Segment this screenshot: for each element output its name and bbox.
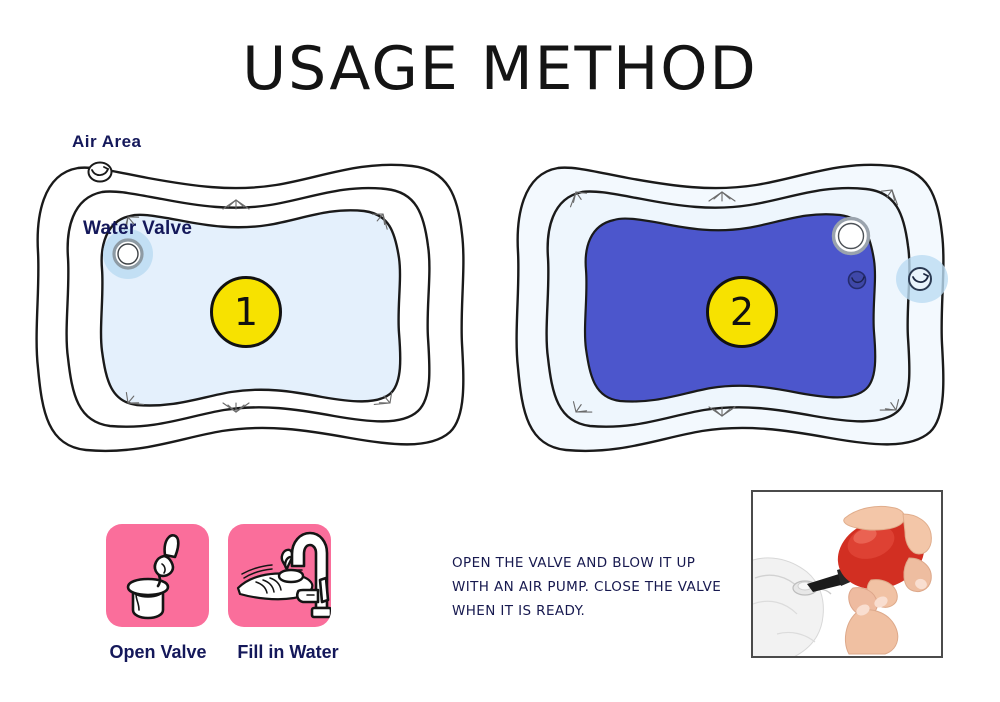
usage-method-diagram: USAGE METHOD [0, 0, 1000, 702]
instruction-text: OPEN THE VALVE AND BLOW IT UP WITH AN AI… [452, 551, 752, 623]
instruction-line-1: OPEN THE VALVE AND BLOW IT UP [452, 551, 752, 575]
step-number-badge-2: 2 [706, 276, 778, 348]
air-pump-photo [751, 490, 943, 658]
water-valve-icon [834, 219, 869, 254]
instruction-line-2: WITH AN AIR PUMP. CLOSE THE VALVE [452, 575, 752, 599]
water-valve-label: Water Valve [83, 218, 192, 240]
step-number-badge-1: 1 [210, 276, 282, 348]
fill-in-water-label: Fill in Water [218, 642, 358, 663]
air-valve-icon [89, 163, 112, 182]
air-area-label: Air Area [72, 132, 142, 152]
air-valve-icon [896, 255, 948, 303]
instruction-line-3: WHEN IT IS READY. [452, 599, 752, 623]
open-valve-card[interactable] [106, 524, 209, 627]
fill-in-water-card[interactable] [228, 524, 331, 627]
valve-open-icon [106, 524, 209, 627]
page-title: USAGE METHOD [0, 36, 1000, 102]
faucet-fill-icon [228, 524, 331, 627]
small-valve-icon [849, 272, 866, 289]
open-valve-label: Open Valve [88, 642, 228, 663]
